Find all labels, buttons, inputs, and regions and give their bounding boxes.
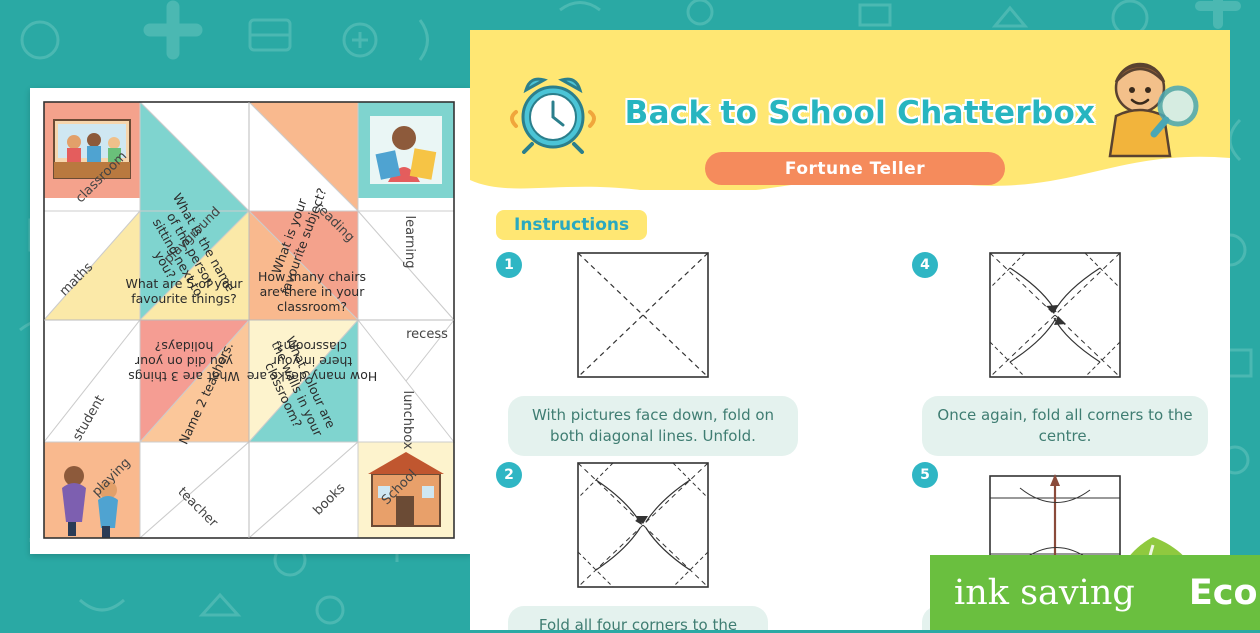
- eco-bar: ink saving Eco: [930, 555, 1260, 630]
- eco-badge: ink saving Eco: [930, 525, 1260, 630]
- step-figure-2: [568, 458, 723, 593]
- chatterbox-outer-label: recess: [406, 327, 448, 342]
- chatterbox-outer-label: lunchbox: [400, 391, 415, 450]
- chatterbox-question: What are 5 of yourfavourite things?: [125, 276, 243, 306]
- eco-label-eco: Eco: [1189, 573, 1258, 613]
- step-caption: Once again, fold all corners to the cent…: [922, 396, 1208, 456]
- chatterbox-template: playground reading learning recess lunch…: [30, 88, 476, 558]
- alarm-clock-icon: [510, 72, 596, 154]
- chatterbox-outer-label: learning: [402, 215, 417, 268]
- instructions-heading: Instructions: [496, 210, 647, 240]
- step-figure-4: [980, 248, 1135, 383]
- step-number: 5: [912, 462, 938, 488]
- step-caption: Fold all four corners to the centre.: [508, 606, 768, 630]
- chatterbox-diagram: playground reading learning recess lunch…: [32, 90, 466, 548]
- eco-label-ink-saving: ink saving: [954, 573, 1135, 613]
- step-number: 1: [496, 252, 522, 278]
- chatterbox-sheet: playground reading learning recess lunch…: [30, 88, 472, 554]
- page-subtitle-pill: Fortune Teller: [705, 152, 1005, 185]
- picture-tile-learning: [358, 102, 454, 198]
- step-number: 4: [912, 252, 938, 278]
- step-number: 2: [496, 462, 522, 488]
- page-title: Back to School Chatterbox: [600, 96, 1120, 130]
- step-caption: With pictures face down, fold on both di…: [508, 396, 798, 456]
- panel-header: Back to School Chatterbox Fortune Teller: [470, 30, 1230, 190]
- step-figure-1: [568, 248, 723, 383]
